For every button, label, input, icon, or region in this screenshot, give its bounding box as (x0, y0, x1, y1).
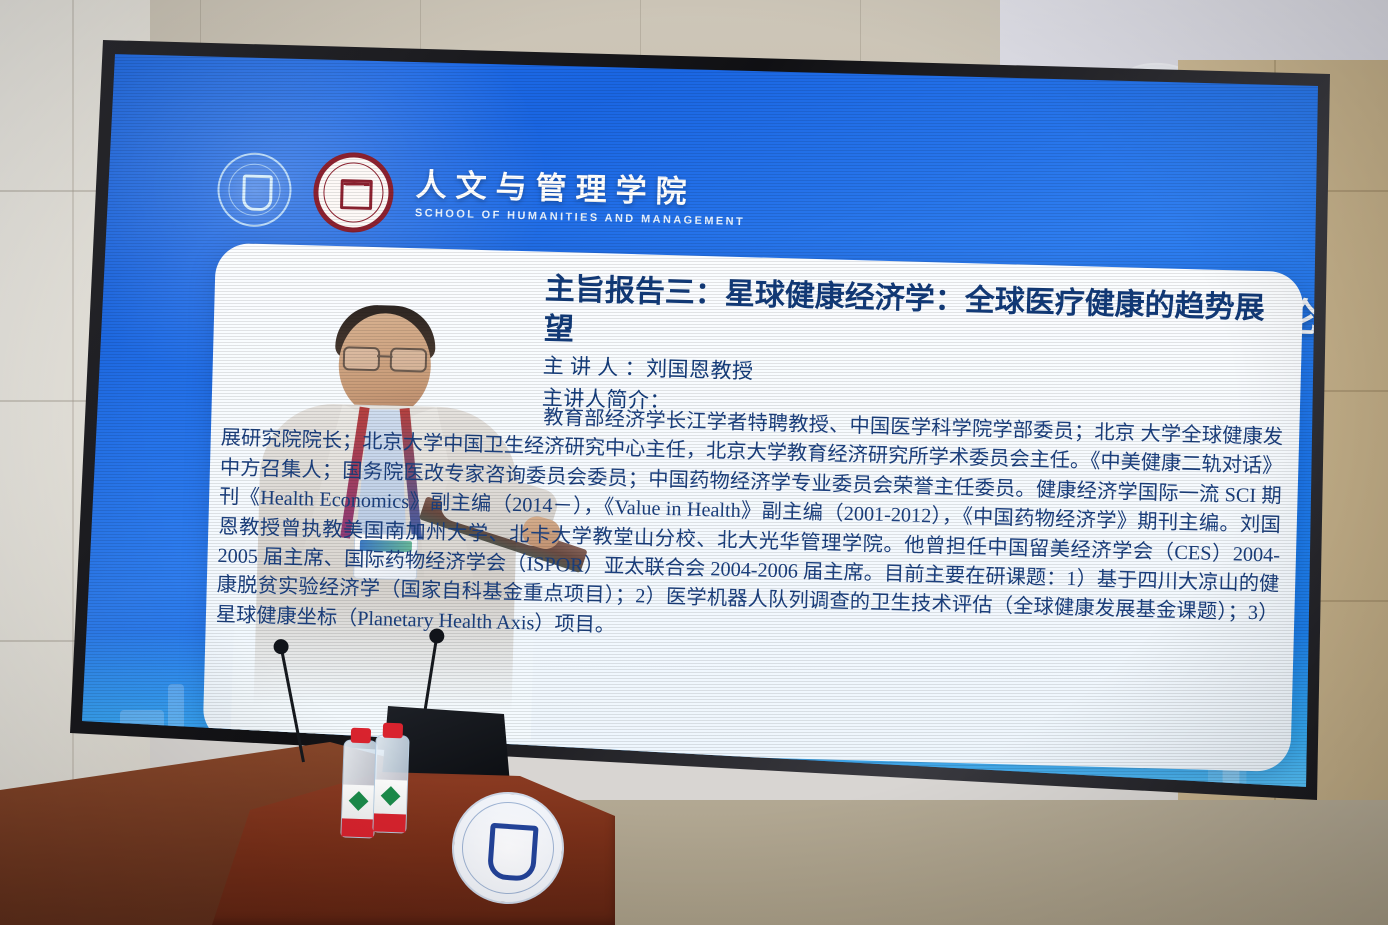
speaker-label: 主 讲 人 ： (543, 354, 647, 381)
speaker-name: 刘国恩教授 (646, 356, 754, 383)
logo-row: 人文与管理学院 SCHOOL OF HUMANITIES AND MANAGEM… (216, 149, 746, 243)
school-emblem-icon (312, 151, 394, 233)
school-name-block: 人文与管理学院 SCHOOL OF HUMANITIES AND MANAGEM… (415, 169, 747, 228)
presentation-screen: 人文与管理学院 SCHOOL OF HUMANITIES AND MANAGEM… (70, 10, 1330, 820)
scene-root: 人文与管理学院 SCHOOL OF HUMANITIES AND MANAGEM… (0, 0, 1388, 925)
school-name-cn: 人文与管理学院 (415, 169, 746, 209)
screen-panel: 人文与管理学院 SCHOOL OF HUMANITIES AND MANAGEM… (70, 10, 1330, 820)
slide-content: 人文与管理学院 SCHOOL OF HUMANITIES AND MANAGEM… (97, 58, 1315, 790)
bio-body: 大学全球健康发展研究院院长；北京大学中国卫生经济研究中心主任，北京大学教育经济研… (216, 423, 1284, 637)
university-emblem-icon (216, 152, 292, 228)
school-name-en: SCHOOL OF HUMANITIES AND MANAGEMENT (415, 207, 745, 228)
glasses-icon (341, 346, 430, 368)
content-card: 主旨报告三：星球健康经济学：全球医疗健康的趋势展望 主 讲 人 ：刘国恩教授 主… (203, 243, 1304, 772)
water-bottle-icon (372, 734, 409, 833)
speaker-biography: 教育部经济学长江学者特聘教授、中国医学科学院学部委员；北京 大学全球健康发展研究… (216, 395, 1284, 659)
